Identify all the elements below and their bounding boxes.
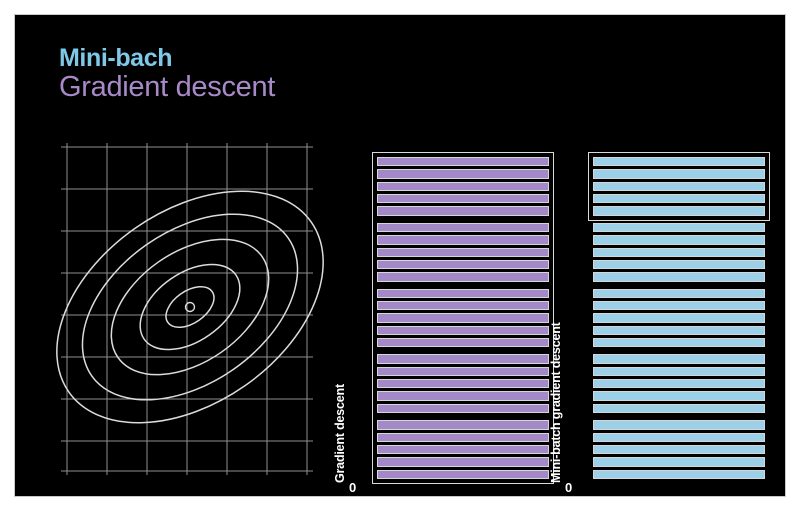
bar — [377, 338, 549, 347]
bar — [377, 194, 549, 203]
bar — [377, 313, 549, 322]
bar — [593, 404, 765, 413]
gradient-descent-zero-label: 0 — [349, 480, 356, 495]
contour-svg — [53, 135, 343, 495]
gradient-descent-axis-label: Gradient descent — [333, 384, 347, 483]
bar — [593, 470, 765, 479]
bar — [377, 354, 549, 363]
bar — [377, 169, 549, 178]
gradient-descent-chart: Gradient descent 0 — [347, 135, 562, 495]
bar — [593, 223, 765, 232]
bar — [593, 182, 765, 191]
contour-ring-1 — [159, 278, 222, 335]
bar — [377, 404, 549, 413]
bar-group — [593, 420, 765, 479]
bar — [593, 420, 765, 429]
bar — [593, 326, 765, 335]
bar-group — [593, 354, 765, 413]
bar — [377, 420, 549, 429]
contour-ring-3 — [86, 211, 293, 402]
bar — [593, 338, 765, 347]
slide-canvas: Mini-bach Gradient descent — [14, 14, 786, 497]
bar — [377, 157, 549, 166]
slide-frame: Mini-bach Gradient descent — [0, 0, 800, 515]
contour-ring-5 — [53, 143, 343, 470]
bar — [593, 272, 765, 281]
bar — [377, 391, 549, 400]
bar — [377, 223, 549, 232]
bar — [593, 248, 765, 257]
bar-group — [377, 354, 549, 413]
bar — [377, 367, 549, 376]
bar — [593, 367, 765, 376]
bar — [593, 301, 765, 310]
mini-batch-gradient-descent-chart: Mini-batch gradient descent 0 — [563, 135, 786, 495]
bar — [593, 354, 765, 363]
title-eyebrow: Mini-bach — [59, 45, 479, 72]
bar-group — [377, 157, 549, 216]
bar — [593, 169, 765, 178]
bar — [593, 379, 765, 388]
bar — [593, 289, 765, 298]
bar — [593, 260, 765, 269]
bar — [593, 157, 765, 166]
bar — [377, 248, 549, 257]
bar — [377, 206, 549, 215]
bar — [593, 235, 765, 244]
bar-group — [593, 157, 765, 216]
bar — [377, 235, 549, 244]
bar — [377, 433, 549, 442]
bar — [377, 272, 549, 281]
bar — [593, 313, 765, 322]
bar — [593, 206, 765, 215]
gradient-descent-bars — [377, 157, 549, 479]
mini-batch-gradient-descent-axis-label: Mini-batch gradient descent — [549, 322, 563, 483]
bar-group — [593, 289, 765, 348]
bar — [377, 326, 549, 335]
bar — [377, 470, 549, 479]
bar — [593, 194, 765, 203]
bar — [377, 289, 549, 298]
mini-batch-gradient-descent-bars — [593, 157, 765, 479]
bar — [593, 391, 765, 400]
bar — [593, 445, 765, 454]
bar — [377, 182, 549, 191]
loss-contour-plot — [53, 135, 343, 495]
bar-group — [593, 223, 765, 282]
bar — [377, 457, 549, 466]
bar — [377, 260, 549, 269]
contour-ring-2 — [125, 247, 256, 367]
bar-group — [377, 289, 549, 348]
mini-batch-gradient-descent-zero-label: 0 — [565, 480, 572, 495]
bar — [377, 445, 549, 454]
page-title: Mini-bach Gradient descent — [59, 45, 479, 104]
bar — [377, 301, 549, 310]
bar — [593, 457, 765, 466]
bar — [593, 433, 765, 442]
contour-grid — [61, 143, 313, 475]
bar — [377, 379, 549, 388]
bar-group — [377, 420, 549, 479]
contour-ellipses — [53, 143, 343, 470]
bar-group — [377, 223, 549, 282]
title-main: Gradient descent — [59, 72, 479, 104]
